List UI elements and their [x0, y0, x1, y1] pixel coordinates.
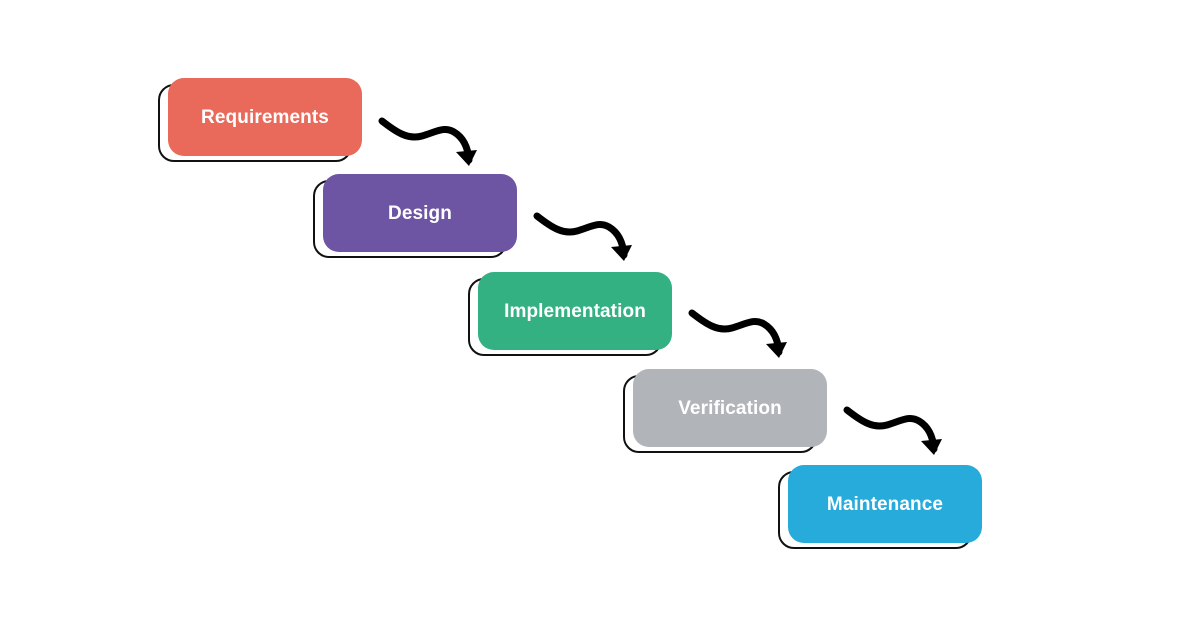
stage-face[interactable]: Maintenance	[788, 465, 982, 543]
curved-arrow-icon	[688, 300, 798, 370]
stage-label-implementation: Implementation	[504, 302, 646, 321]
stage-face[interactable]: Verification	[633, 369, 827, 447]
arrow-implementation-to-verification	[688, 300, 808, 380]
stage-face[interactable]: Implementation	[478, 272, 672, 350]
stage-face[interactable]: Requirements	[168, 78, 362, 156]
stage-label-requirements: Requirements	[201, 108, 329, 127]
curved-arrow-icon	[378, 108, 488, 178]
stage-label-verification: Verification	[678, 399, 782, 418]
stage-label-maintenance: Maintenance	[827, 495, 943, 514]
curved-arrow-icon	[533, 203, 643, 273]
curved-arrow-icon	[843, 397, 953, 467]
stage-face[interactable]: Design	[323, 174, 517, 252]
waterfall-diagram-canvas: Requirements Design Implementation	[0, 0, 1200, 628]
arrow-design-to-implementation	[533, 203, 653, 283]
stage-label-design: Design	[388, 204, 452, 223]
